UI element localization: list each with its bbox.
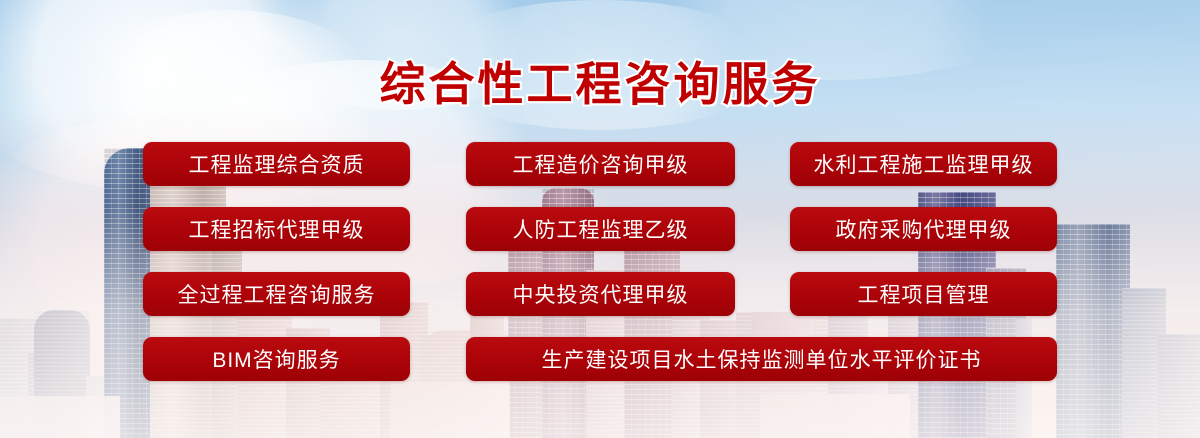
qualification-badge[interactable]: 政府采购代理甲级 bbox=[790, 207, 1057, 251]
building-shape bbox=[760, 394, 910, 438]
qualification-badge[interactable]: 生产建设项目水土保持监测单位水平评价证书 bbox=[466, 337, 1057, 381]
qualification-badge[interactable]: 工程项目管理 bbox=[790, 272, 1057, 316]
qualification-badge[interactable]: 人防工程监理乙级 bbox=[466, 207, 735, 251]
badge-row: 工程监理综合资质 工程造价咨询甲级 水利工程施工监理甲级 bbox=[143, 142, 1058, 186]
page-title: 综合性工程咨询服务 bbox=[380, 48, 821, 114]
building-shape bbox=[1056, 224, 1130, 438]
promo-banner: 综合性工程咨询服务 工程监理综合资质 工程造价咨询甲级 水利工程施工监理甲级 工… bbox=[0, 0, 1200, 438]
badge-row: BIM咨询服务 生产建设项目水土保持监测单位水平评价证书 bbox=[143, 337, 1058, 381]
qualification-badge[interactable]: BIM咨询服务 bbox=[143, 337, 410, 381]
badge-row: 工程招标代理甲级 人防工程监理乙级 政府采购代理甲级 bbox=[143, 207, 1058, 251]
qualification-badge[interactable]: 工程监理综合资质 bbox=[143, 142, 410, 186]
qualification-badge[interactable]: 工程招标代理甲级 bbox=[143, 207, 410, 251]
qualification-badge[interactable]: 工程造价咨询甲级 bbox=[466, 142, 735, 186]
qualification-badge[interactable]: 中央投资代理甲级 bbox=[466, 272, 735, 316]
title-container: 综合性工程咨询服务 bbox=[0, 48, 1200, 114]
building-shape bbox=[390, 382, 510, 438]
qualification-badge-grid: 工程监理综合资质 工程造价咨询甲级 水利工程施工监理甲级 工程招标代理甲级 人防… bbox=[143, 142, 1058, 381]
qualification-badge[interactable]: 全过程工程咨询服务 bbox=[143, 272, 410, 316]
building-shape bbox=[1158, 334, 1200, 438]
building-shape bbox=[0, 396, 120, 438]
badge-row: 全过程工程咨询服务 中央投资代理甲级 工程项目管理 bbox=[143, 272, 1058, 316]
qualification-badge[interactable]: 水利工程施工监理甲级 bbox=[790, 142, 1057, 186]
